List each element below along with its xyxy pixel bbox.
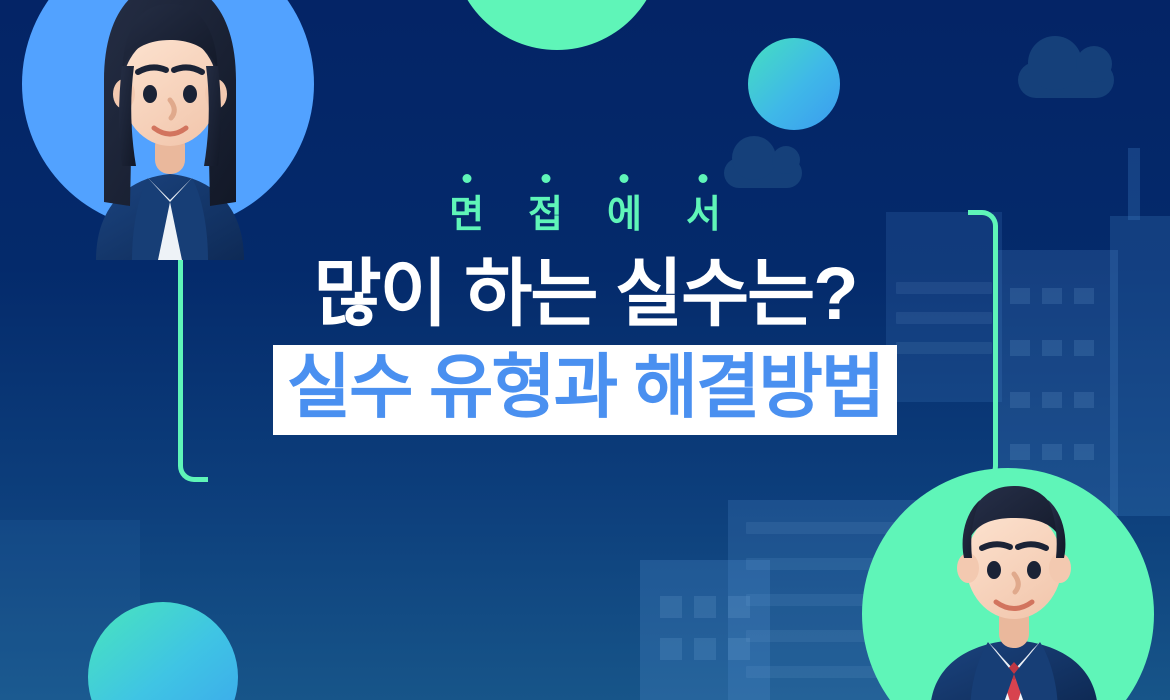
eyebrow-char: 에 — [607, 196, 642, 234]
mint-circle-decoration — [452, 0, 662, 50]
building-center-low — [640, 560, 770, 700]
promo-banner: 면 접 에 서 많이 하는 실수는? 실수 유형과 해결방법 — [0, 0, 1170, 700]
building-window — [1042, 444, 1062, 460]
teal-circle-decoration — [748, 38, 840, 130]
building-window — [1010, 444, 1030, 460]
highlight-subtitle: 실수 유형과 해결방법 — [273, 345, 898, 434]
building-window — [728, 596, 750, 618]
eyebrow-wrapper: 면 접 에 서 — [449, 196, 721, 234]
eyebrow-char: 접 — [528, 196, 563, 234]
male-interviewer-avatar — [884, 474, 1144, 700]
building-window — [694, 596, 716, 618]
eyebrow-char: 면 — [449, 196, 484, 234]
eyebrow-text: 면 접 에 서 — [449, 196, 721, 234]
building-window — [660, 596, 682, 618]
cloud-icon — [1018, 62, 1114, 98]
building-window — [660, 638, 682, 660]
headline-text-block: 면 접 에 서 많이 하는 실수는? 실수 유형과 해결방법 — [0, 196, 1170, 435]
eyebrow-char: 서 — [686, 196, 721, 234]
building-window — [1074, 444, 1094, 460]
cloud-icon — [724, 158, 802, 188]
building-window — [694, 638, 716, 660]
page-title: 많이 하는 실수는? — [0, 256, 1170, 331]
highlight-wrapper: 실수 유형과 해결방법 — [0, 345, 1170, 434]
building-window — [728, 638, 750, 660]
